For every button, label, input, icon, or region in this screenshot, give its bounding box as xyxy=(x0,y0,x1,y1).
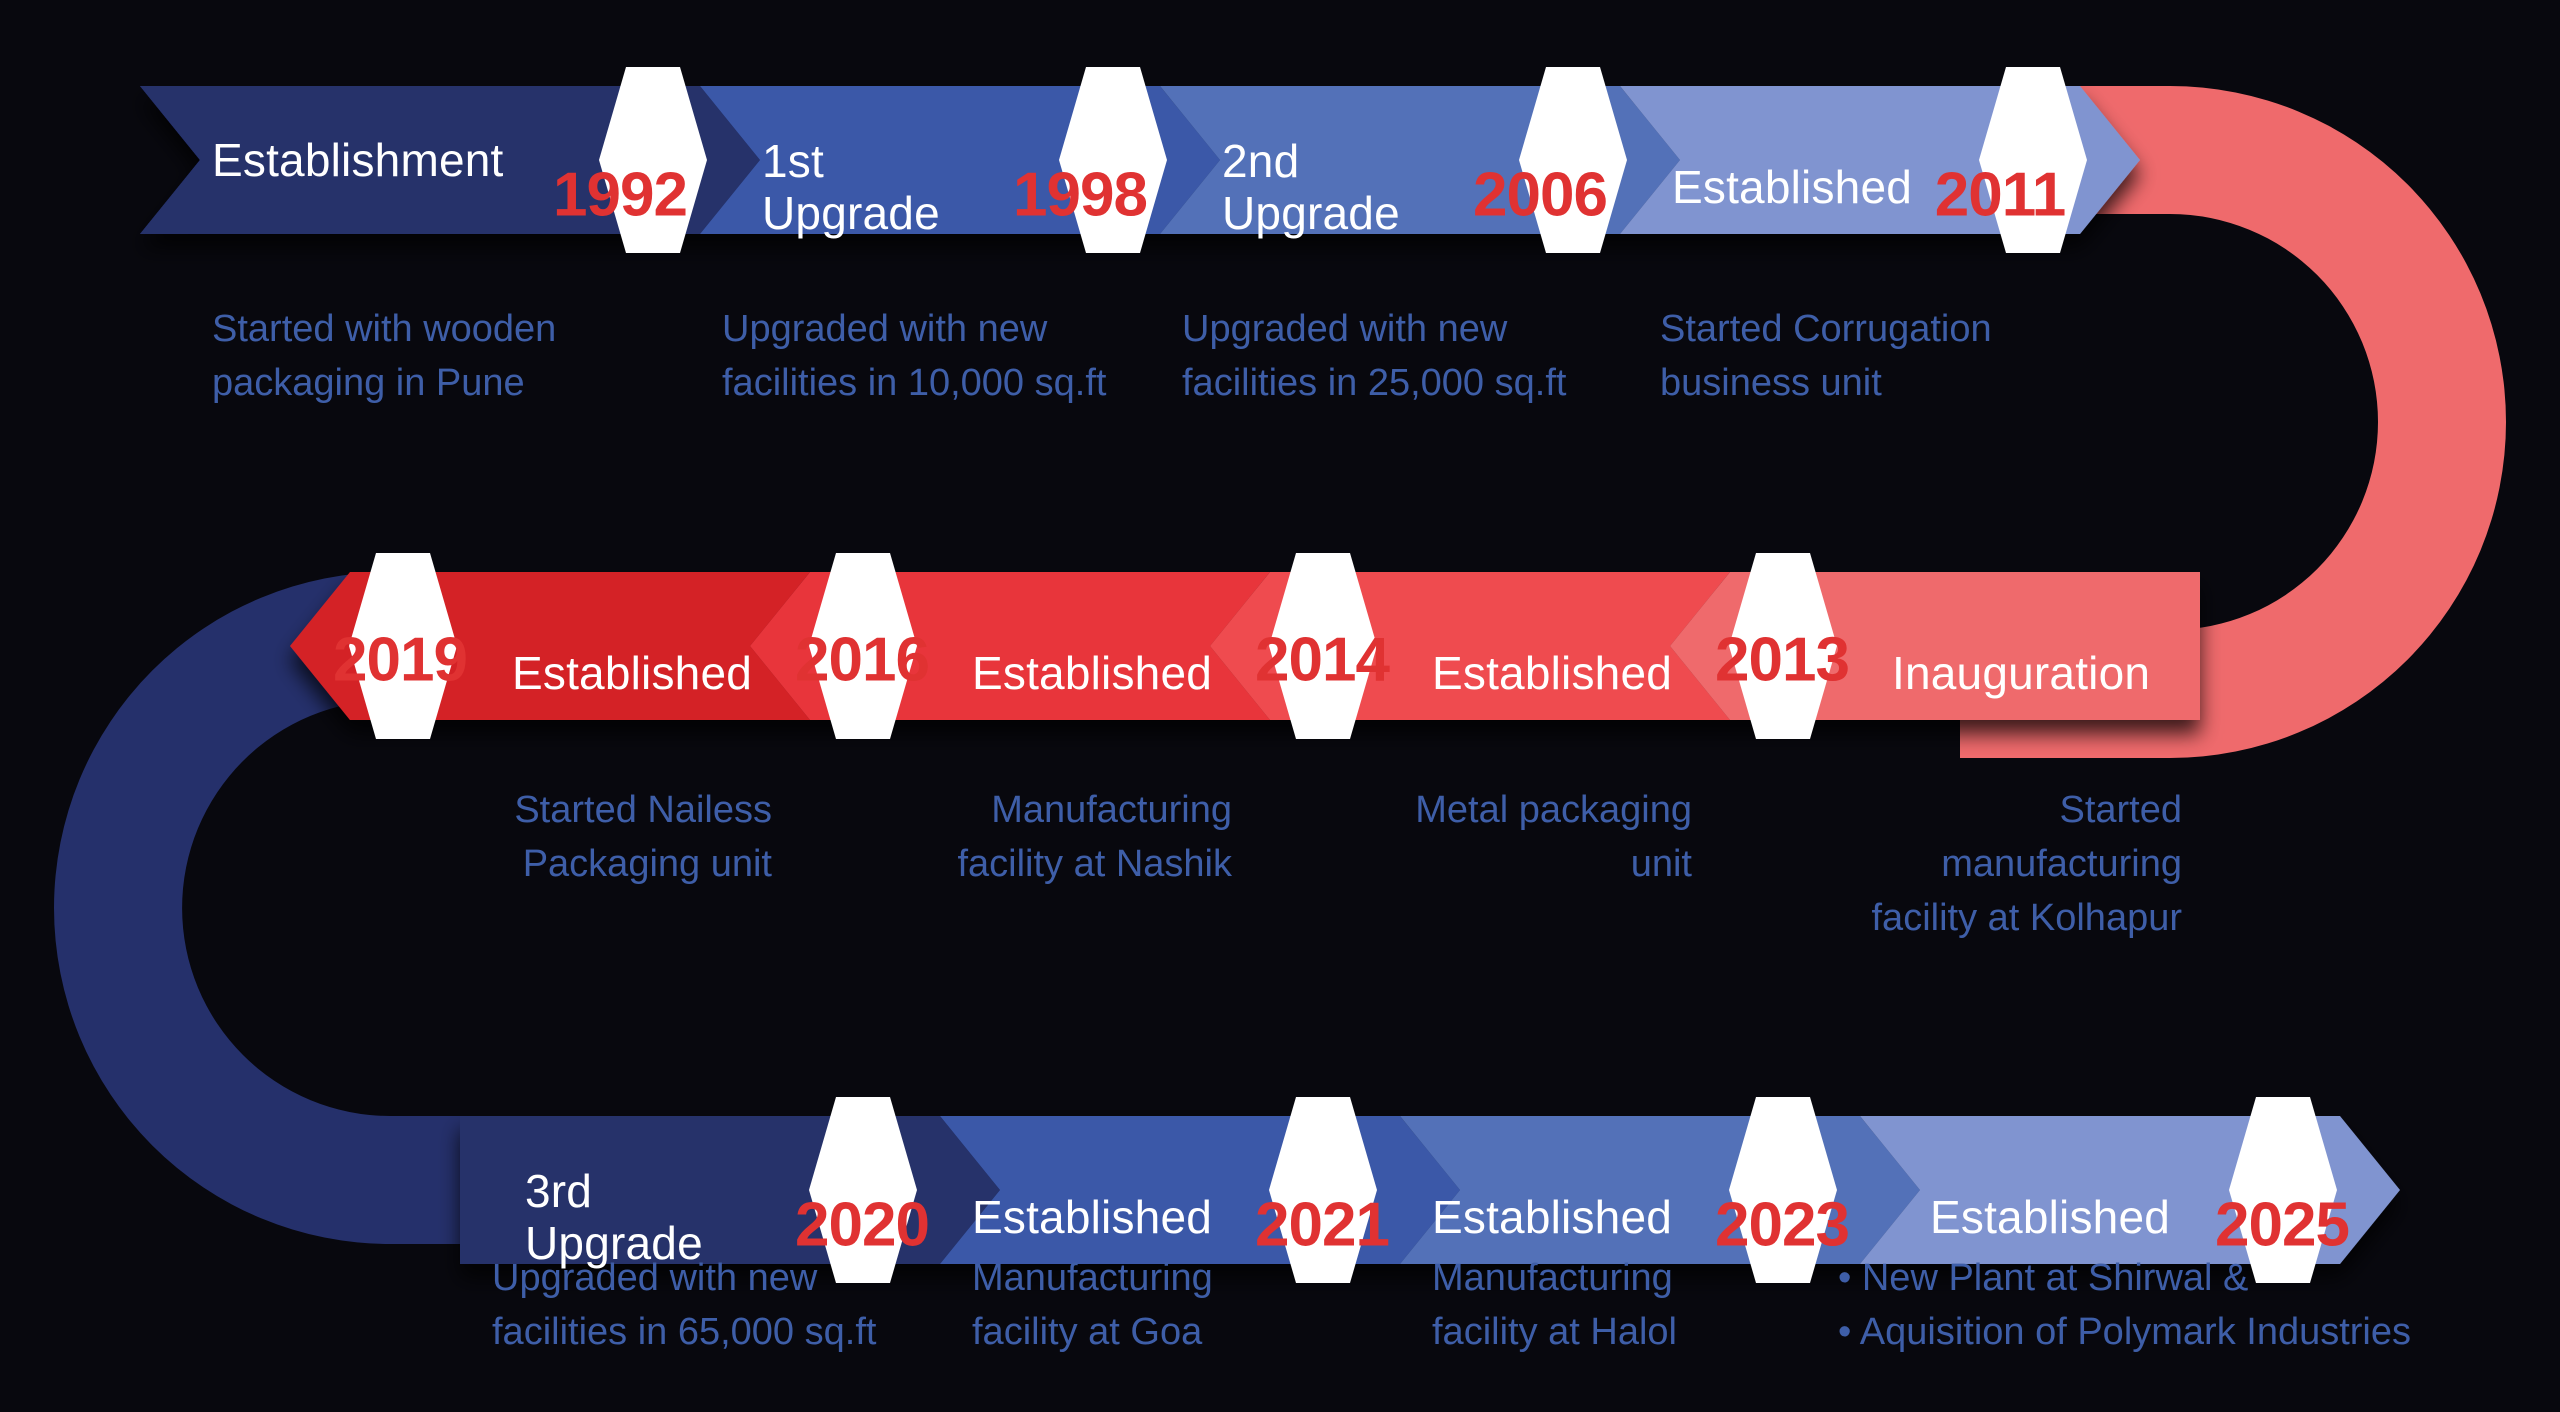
row-1-segment-2-caption: Upgraded with new facilities in 10,000 s… xyxy=(722,303,1106,411)
row-2-segment-4-caption: Started manufacturing facility at Kolhap… xyxy=(1810,784,2182,946)
row-3-segment-2-label: Established xyxy=(972,1192,1212,1244)
row-2-segment-3-label: Established xyxy=(1432,648,1672,700)
row-1-segment-4-caption: Started Corrugation business unit xyxy=(1660,303,1992,411)
row-1-segment-4-year: 2011 xyxy=(1900,160,2100,231)
row-1-segment-3-label: 2nd Upgrade xyxy=(1222,136,1400,239)
row-2-segment-4-year: 2013 xyxy=(1682,625,1882,696)
row-2-segment-1-caption: Started Nailess Packaging unit xyxy=(460,784,772,892)
timeline-infographic: Establishment 1992 Started with wooden p… xyxy=(0,0,2560,1412)
row-1-segment-3-year: 2006 xyxy=(1440,160,1640,231)
row-2-segment-1-year: 2019 xyxy=(300,625,500,696)
row-3-segment-3-year: 2023 xyxy=(1682,1190,1882,1261)
row-3-segment-4-caption: • New Plant at Shirwal & • Aquisition of… xyxy=(1838,1252,2411,1360)
row-3-segment-4-year: 2025 xyxy=(2182,1190,2382,1261)
row-2-segment-2-label: Established xyxy=(972,648,1212,700)
row-2-segment-1-label: Established xyxy=(512,648,752,700)
row-3-segment-1-year: 2020 xyxy=(762,1190,962,1261)
row-1-segment-1-year: 1992 xyxy=(520,160,720,231)
row-1-segment-3-caption: Upgraded with new facilities in 25,000 s… xyxy=(1182,303,1566,411)
row-1-segment-1-label: Establishment xyxy=(212,135,504,187)
row-2-segment-3-caption: Metal packaging unit xyxy=(1380,784,1692,892)
row-3-segment-1-caption: Upgraded with new facilities in 65,000 s… xyxy=(492,1252,876,1360)
row-1-segment-2-year: 1998 xyxy=(980,160,1180,231)
row-1-segment-4-label: Established xyxy=(1672,162,1912,214)
row-3-segment-2-caption: Manufacturing facility at Goa xyxy=(972,1252,1213,1360)
row-3-segment-4-label: Established xyxy=(1930,1192,2170,1244)
row-1-segment-2-label: 1st Upgrade xyxy=(762,136,940,239)
row-2-segment-2-caption: Manufacturing facility at Nashik xyxy=(920,784,1232,892)
row-1-segment-1-caption: Started with wooden packaging in Pune xyxy=(212,303,556,411)
row-3-segment-2-year: 2021 xyxy=(1222,1190,1422,1261)
row-3-segment-3-label: Established xyxy=(1432,1192,1672,1244)
row-3-segment-3-caption: Manufacturing facility at Halol xyxy=(1432,1252,1677,1360)
row-2-segment-3-year: 2014 xyxy=(1222,625,1422,696)
row-2-segment-4-label: Inauguration xyxy=(1892,648,2150,700)
row-2-segment-2-year: 2016 xyxy=(762,625,962,696)
